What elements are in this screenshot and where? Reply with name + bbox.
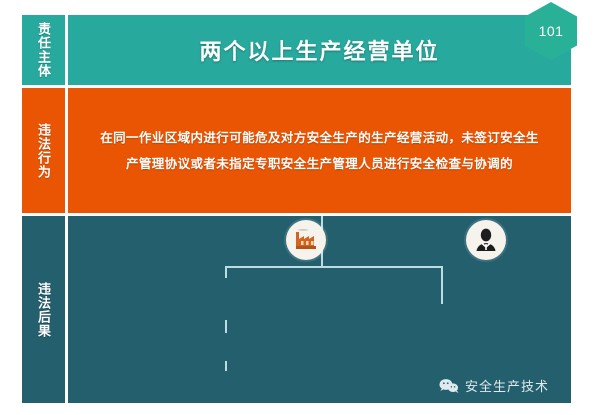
account-name: 安全生产技术 xyxy=(465,376,549,395)
header-panel: 两个以上生产经营单位 xyxy=(68,15,571,85)
row-label-subject: 责任主体 xyxy=(22,15,65,85)
conduct-panel: 在同一作业区域内进行可能危及对方安全生产的生产经营活动，未签订安全生产管理协议或… xyxy=(68,88,571,213)
factory-icon xyxy=(286,220,326,260)
connector-drop-left xyxy=(225,266,227,278)
person-icon xyxy=(466,220,506,260)
account-watermark: 安全生产技术 xyxy=(439,376,549,395)
row-label-subject-text: 责任主体 xyxy=(35,22,52,78)
connector-drop-right xyxy=(441,266,443,304)
conduct-description: 在同一作业区域内进行可能危及对方安全生产的生产经营活动，未签订安全生产管理协议或… xyxy=(95,125,545,177)
row-label-conduct-text: 违法行为 xyxy=(35,123,52,179)
row-label-consequence-text: 违法后果 xyxy=(35,282,52,338)
row-label-conduct: 违法行为 xyxy=(22,88,65,213)
wechat-icon xyxy=(439,378,459,394)
connector-correct-to-overdue xyxy=(225,320,227,333)
consequence-panel: 责令限期改正 可以处五万元以下的罚款 逾期未改正 责令停产停业 对其直接负责的主… xyxy=(68,216,571,403)
page-title: 两个以上生产经营单位 xyxy=(199,34,439,66)
connector-overdue-to-shutdown xyxy=(225,361,227,371)
connector-split-bar xyxy=(225,266,443,268)
slide-canvas: 责任主体 违法行为 违法后果 两个以上生产经营单位 101 在同一作业区域内进行… xyxy=(0,0,600,415)
page-number-text: 101 xyxy=(539,23,564,39)
row-label-consequence: 违法后果 xyxy=(22,216,65,403)
